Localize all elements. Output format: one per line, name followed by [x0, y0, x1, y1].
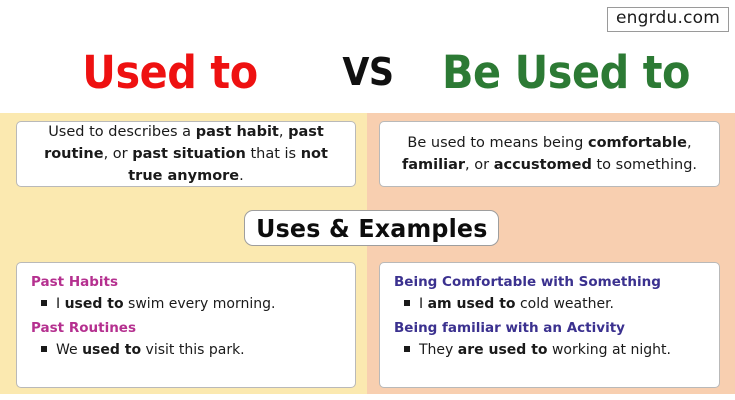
title-term-right: Be Used to	[428, 50, 704, 95]
title-term-left: Used to	[32, 50, 308, 95]
example-list-item: We used to visit this park.	[41, 341, 347, 359]
example-sentence: I used to swim every morning.	[56, 295, 275, 313]
definition-text-used-to: Used to describes a past habit, past rou…	[27, 121, 345, 187]
example-group-heading: Being Comfortable with Something	[394, 274, 711, 291]
examples-card-be-used-to: Being Comfortable with SomethingI am use…	[379, 262, 720, 388]
example-list-item: I used to swim every morning.	[41, 295, 347, 313]
examples-card-used-to: Past HabitsI used to swim every morning.…	[16, 262, 356, 388]
example-list-item: I am used to cold weather.	[404, 295, 711, 313]
uses-and-examples-label: Uses & Examples	[256, 216, 487, 241]
square-bullet-icon	[404, 346, 410, 352]
definition-text-be-used-to: Be used to means being comfortable, fami…	[390, 132, 709, 176]
example-group-heading: Past Habits	[31, 274, 347, 291]
example-sentence: I am used to cold weather.	[419, 295, 614, 313]
example-list-item: They are used to working at night.	[404, 341, 711, 359]
uses-and-examples-banner: Uses & Examples	[244, 210, 499, 246]
site-watermark: engrdu.com	[607, 7, 729, 32]
example-sentence: They are used to working at night.	[419, 341, 671, 359]
example-group-heading: Past Routines	[31, 320, 347, 337]
title-vs-label: VS	[323, 53, 411, 91]
definition-card-be-used-to: Be used to means being comfortable, fami…	[379, 121, 720, 187]
comparison-title: Used to VS Be Used to	[0, 44, 735, 100]
example-sentence: We used to visit this park.	[56, 341, 245, 359]
example-group-heading: Being familiar with an Activity	[394, 320, 711, 337]
square-bullet-icon	[41, 300, 47, 306]
square-bullet-icon	[41, 346, 47, 352]
definition-card-used-to: Used to describes a past habit, past rou…	[16, 121, 356, 187]
square-bullet-icon	[404, 300, 410, 306]
